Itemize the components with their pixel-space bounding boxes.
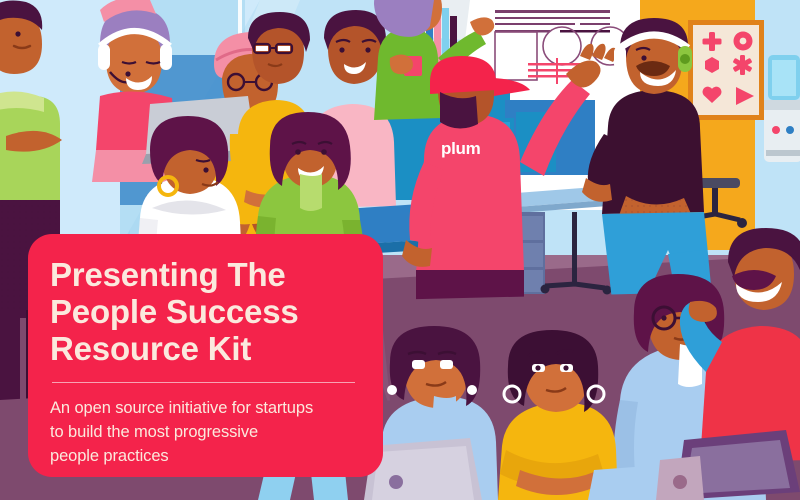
water-cooler — [764, 55, 800, 162]
page-title: Presenting The People Success Resource K… — [50, 256, 357, 367]
shirt-brand-label: plum — [441, 139, 481, 158]
plus-icon-h — [703, 39, 722, 45]
page-subtitle-line-2: to build the most progressive — [50, 420, 357, 444]
hero-card: Presenting The People Success Resource K… — [28, 234, 383, 477]
pillar-knob — [673, 475, 687, 489]
framed-poster — [688, 20, 764, 120]
page-subtitle-line-3: people practices — [50, 444, 357, 468]
title-divider — [52, 382, 355, 383]
page-subtitle-line-1: An open source initiative for startups — [50, 396, 357, 420]
page-subtitle: An open source initiative for startups t… — [50, 396, 357, 468]
whiteboard — [490, 5, 629, 90]
page-title-line-1: Presenting The — [50, 256, 357, 293]
poster-canvas: plum — [0, 0, 800, 500]
page-title-line-2: People Success — [50, 293, 357, 330]
page-title-line-3: Resource Kit — [50, 330, 357, 367]
